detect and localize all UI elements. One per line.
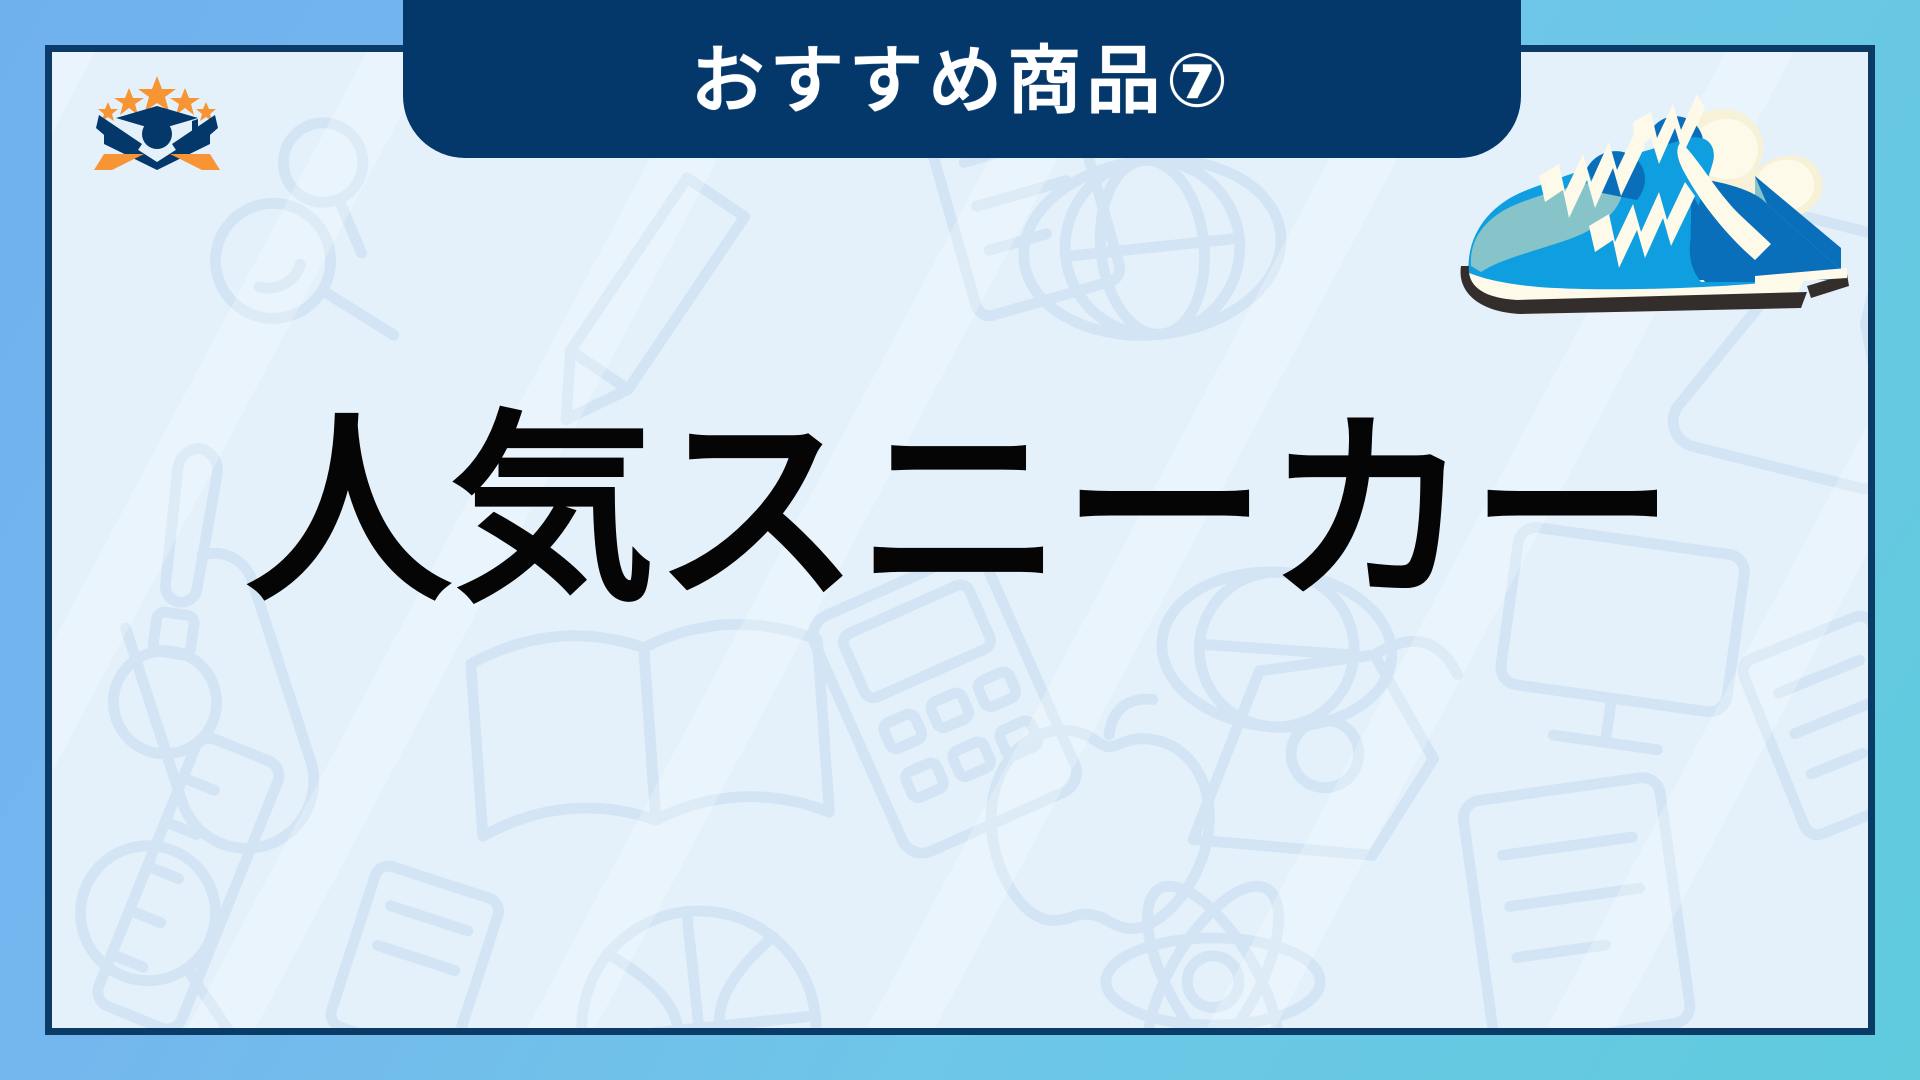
graduation-cap-logo — [82, 58, 232, 170]
banner-title: おすすめ商品⑦ — [691, 30, 1234, 118]
slide-canvas: 人気スニーカー — [0, 0, 1920, 1080]
blue-sneakers-illustration — [1455, 80, 1870, 340]
header-banner: おすすめ商品⑦ — [403, 0, 1521, 158]
